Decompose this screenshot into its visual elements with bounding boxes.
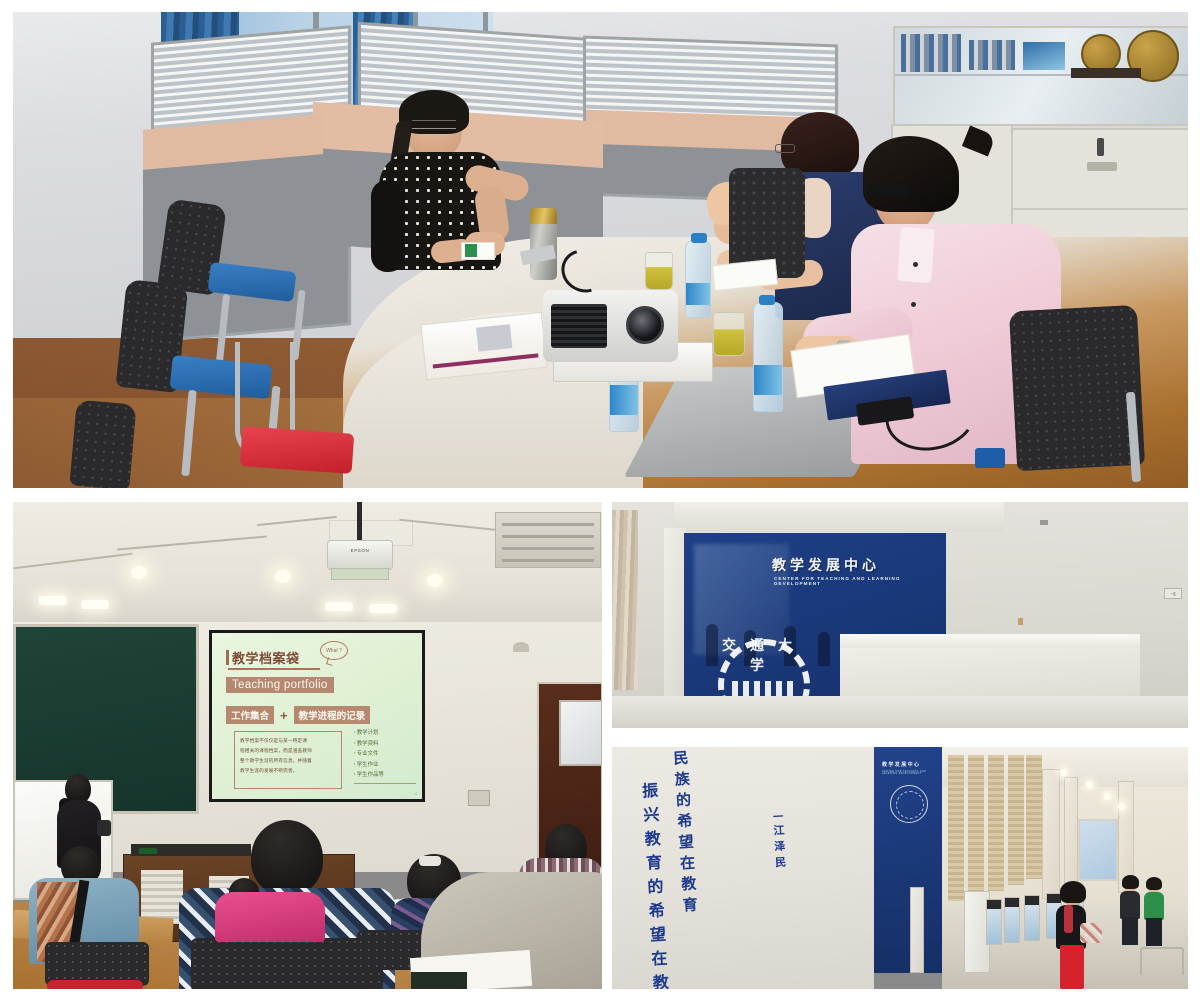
- projector-vent: [551, 304, 607, 348]
- poster-header: [1005, 898, 1019, 907]
- shirt-button: [911, 302, 916, 307]
- slide-formula-row: 工作集合 + 教学进程的记录: [226, 706, 370, 724]
- center-standing-banner: 教学发展中心 CENTER FOR TEACHING AND LEARNING …: [874, 747, 942, 973]
- slide-formula-right: 教学进程的记录: [294, 706, 371, 724]
- poster-stand: [1004, 897, 1020, 943]
- wall-column: [664, 528, 686, 714]
- classroom-chair: [191, 938, 383, 989]
- corridor-pilaster: [1042, 769, 1060, 899]
- eyeglasses: [867, 184, 911, 197]
- hair: [863, 136, 959, 212]
- photo-collage: EPSON 教学档案袋 What ? Teaching portfolio 工作…: [0, 0, 1200, 1000]
- corridor-blinds: [948, 755, 964, 905]
- vent-slat: [502, 523, 594, 526]
- corridor-ceiling-light: [1060, 769, 1067, 776]
- photo-corridor-quote: 民族的希望在教育 振兴教育的希望在教师 —江泽民 教学发展中心 CENTER F…: [612, 747, 1188, 989]
- poster-header: [987, 900, 1001, 909]
- lobby-floor: [612, 696, 1188, 728]
- bottle-label: [754, 365, 782, 395]
- slide-body-line: 程相关的课程档案，而是涵盖教师: [240, 746, 336, 756]
- window-curtain: [612, 510, 638, 690]
- ceiling-soffit: [674, 502, 1004, 532]
- slide-title-underline: [228, 668, 320, 670]
- seal-characters: 交通大学: [710, 635, 818, 675]
- corridor-far-window: [1078, 819, 1118, 881]
- slide-bullet: 教学计划: [354, 728, 416, 739]
- magazine-accent-bar: [433, 353, 538, 368]
- desktop-projector: [543, 290, 678, 362]
- water-bottle: [753, 302, 783, 412]
- projector-underside: [331, 568, 389, 580]
- ceiling-spotlight: [275, 570, 291, 583]
- eyeglasses: [775, 144, 795, 153]
- skirt: [1122, 917, 1138, 945]
- slide-bullet: 教学资料: [354, 739, 416, 750]
- vent-slat: [502, 559, 594, 562]
- projector-brand-label: EPSON: [328, 548, 392, 553]
- slide-title-group: 教学档案袋: [226, 648, 300, 667]
- slide-body-box: 教学档案不仅仅是与某一特定课 程相关的课程档案，而是涵盖教师 整个教学生涯的所有…: [234, 731, 342, 789]
- chair-backrest: [69, 400, 136, 488]
- hair: [1122, 875, 1139, 889]
- corridor-ceiling-light: [1086, 781, 1093, 788]
- corridor-blinds: [968, 755, 984, 897]
- hair: [1060, 881, 1086, 903]
- slide-body-line: 教学档案不仅仅是与某一特定课: [240, 736, 336, 746]
- photo-classroom-lecture: EPSON 教学档案袋 What ? Teaching portfolio 工作…: [13, 502, 602, 989]
- slide-title-cn: 教学档案袋: [232, 648, 300, 667]
- audience-head: [251, 820, 323, 896]
- banner-university-seal: [890, 785, 928, 823]
- slide-title-accent-bar: [226, 650, 229, 665]
- corridor-ceiling-light: [1118, 803, 1125, 810]
- name-card-logo: [465, 244, 477, 257]
- ceiling-spotlight: [427, 574, 443, 587]
- ceiling-light-bar: [81, 600, 109, 609]
- chair-backrest-right: [1009, 305, 1145, 471]
- ceiling-fixture: [1040, 520, 1048, 525]
- vga-connector: [975, 448, 1005, 468]
- classroom-chair-seat: [47, 980, 143, 989]
- slide-what-bubble: What ?: [320, 641, 348, 660]
- cabinet-key: [1097, 138, 1104, 156]
- presenter-remote: [97, 820, 111, 836]
- corridor-railing: [1140, 947, 1184, 975]
- corridor-blinds: [988, 755, 1004, 891]
- trophy-base: [1071, 68, 1141, 78]
- ceiling-light-bar: [39, 596, 67, 605]
- bottle-label: [610, 385, 638, 415]
- vent-slat: [502, 535, 594, 538]
- security-dome-camera: [513, 642, 529, 652]
- slide-title-en: Teaching portfolio: [226, 677, 334, 693]
- cabinet-books: [969, 40, 1015, 70]
- banner-name-en: CENTER FOR TEACHING AND LEARNING DEVELOP…: [882, 771, 942, 775]
- vent-slat: [502, 547, 594, 550]
- display-cabinet: [893, 26, 1188, 126]
- ceiling-projector: EPSON: [327, 540, 393, 570]
- center-name-en: CENTER FOR TEACHING AND LEARNING DEVELOP…: [774, 576, 946, 586]
- cabinet-seam: [1013, 208, 1188, 210]
- wall-control-panel: [468, 790, 490, 806]
- eyeglasses: [412, 120, 456, 129]
- ceiling-light-bar: [369, 604, 397, 613]
- cabinet-photo-frame: [1023, 42, 1065, 70]
- poster-header: [1047, 894, 1061, 903]
- hair: [1146, 877, 1162, 890]
- corridor-pilaster: [1064, 777, 1078, 893]
- projector-mount-arm: [357, 502, 362, 542]
- projection-screen: 教学档案袋 What ? Teaching portfolio 工作集合 + 教…: [209, 630, 425, 802]
- reflected-figure: [818, 632, 830, 666]
- sleeve: [371, 180, 405, 272]
- slide-page-number: 4: [415, 791, 417, 796]
- ceiling-light-bar: [325, 602, 353, 611]
- wall-display-cabinet: [910, 887, 924, 973]
- poster-stand: [1024, 895, 1040, 941]
- notebook: [411, 972, 467, 989]
- poster-header: [1025, 896, 1039, 905]
- wall-marking: [1018, 618, 1023, 625]
- floral-handbag: [1080, 923, 1102, 943]
- chair-seat-red: [240, 426, 355, 474]
- slide-body-line: 整个教学生涯的所有信息，并随着: [240, 756, 336, 766]
- hair-clip: [419, 856, 441, 866]
- red-trousers: [1060, 945, 1084, 989]
- center-name-cn: 教学发展中心: [772, 555, 880, 575]
- slide-bullet-rule: [354, 783, 416, 784]
- partition-glass: [586, 39, 835, 119]
- projector-lens: [626, 306, 664, 344]
- trousers: [1146, 918, 1162, 946]
- scarf: [1064, 905, 1073, 933]
- bottle-cap: [691, 233, 707, 243]
- presentation-slide: 教学档案袋 What ? Teaching portfolio 工作集合 + 教…: [212, 633, 422, 799]
- ceiling-spotlight: [131, 566, 147, 579]
- tea-glass: [713, 312, 745, 356]
- photo-meeting-room: [13, 12, 1188, 488]
- corridor-blinds: [1026, 755, 1042, 879]
- room-sign: 一区: [1164, 588, 1182, 599]
- slide-bullet: 学生作业: [354, 760, 416, 771]
- podium-item: [139, 848, 157, 854]
- magazine-photo: [476, 324, 512, 351]
- reception-counter-top: [840, 634, 1140, 648]
- photo-ctld-reception: 交通大学 教学发展中心 CENTER FOR TEACHING AND LEAR…: [612, 502, 1188, 728]
- bottle-label: [686, 283, 710, 305]
- cabinet-books: [901, 34, 961, 72]
- water-bottle: [685, 240, 711, 318]
- pink-top: [215, 892, 325, 942]
- corridor-ceiling-light: [1104, 793, 1111, 800]
- shirt-button: [913, 262, 918, 267]
- slide-bullet: 学生作品等: [354, 770, 416, 781]
- slide-bullet: 专业文件: [354, 749, 416, 760]
- green-top: [1144, 892, 1164, 920]
- banner-name-cn: 教学发展中心: [882, 761, 920, 768]
- slide-formula-left: 工作集合: [226, 706, 274, 724]
- air-conditioner-vent: [495, 512, 601, 568]
- tea-glass: [645, 252, 673, 290]
- slide-bullet-list: 教学计划 教学资料 专业文件 学生作业 学生作品等: [354, 728, 416, 784]
- corridor-blinds: [1008, 755, 1024, 885]
- slide-formula-operator: +: [280, 708, 288, 723]
- poster-stand: [986, 899, 1002, 945]
- shirt-collar: [897, 227, 935, 283]
- door-window: [559, 700, 602, 766]
- top: [1120, 891, 1140, 919]
- thermos-cap: [530, 208, 557, 224]
- slide-body-line: 教学生涯的发展不断完善。: [240, 766, 336, 776]
- bottle-cap: [759, 295, 775, 305]
- cabinet-handle: [1087, 162, 1117, 171]
